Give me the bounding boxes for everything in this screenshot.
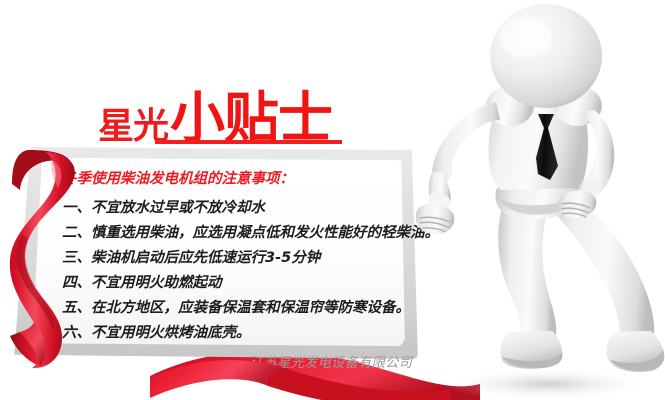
tip-item-6: 六、不宜用明火烘烤油底壳。 xyxy=(62,321,422,346)
tip-item-4: 四、不宜用明火助燃起动 xyxy=(62,271,422,296)
tip-item-3: 三、柴油机启动后应先低速运行3-5分钟 xyxy=(62,246,422,271)
poster-title: 星光 小贴士 xyxy=(98,86,332,144)
tip-item-2: 二、慎重选用柴油，应选用凝点低和发火性能好的轻柴油。 xyxy=(62,221,422,246)
title-underline xyxy=(155,140,342,144)
3d-businessman-figure xyxy=(398,2,665,400)
title-main: 小贴士 xyxy=(170,92,332,144)
tips-heading: 冬季使用柴油发电机组的注意事项： xyxy=(62,167,422,188)
company-signature: --江苏星光发电设备有限公司 xyxy=(62,351,422,371)
title-prefix: 星光 xyxy=(98,109,168,144)
tip-item-1: 一、不宜放水过早或不放冷却水 xyxy=(62,196,422,221)
tips-content: 冬季使用柴油发电机组的注意事项： 一、不宜放水过早或不放冷却水 二、慎重选用柴油… xyxy=(62,167,422,371)
poster-canvas: 星光 小贴士 冬季使用柴油发电机组的注意事项： 一、不宜放水过早或不放冷却水 二… xyxy=(0,0,665,400)
tip-item-5: 五、在北方地区，应装备保温套和保温帘等防寒设备。 xyxy=(62,296,422,321)
